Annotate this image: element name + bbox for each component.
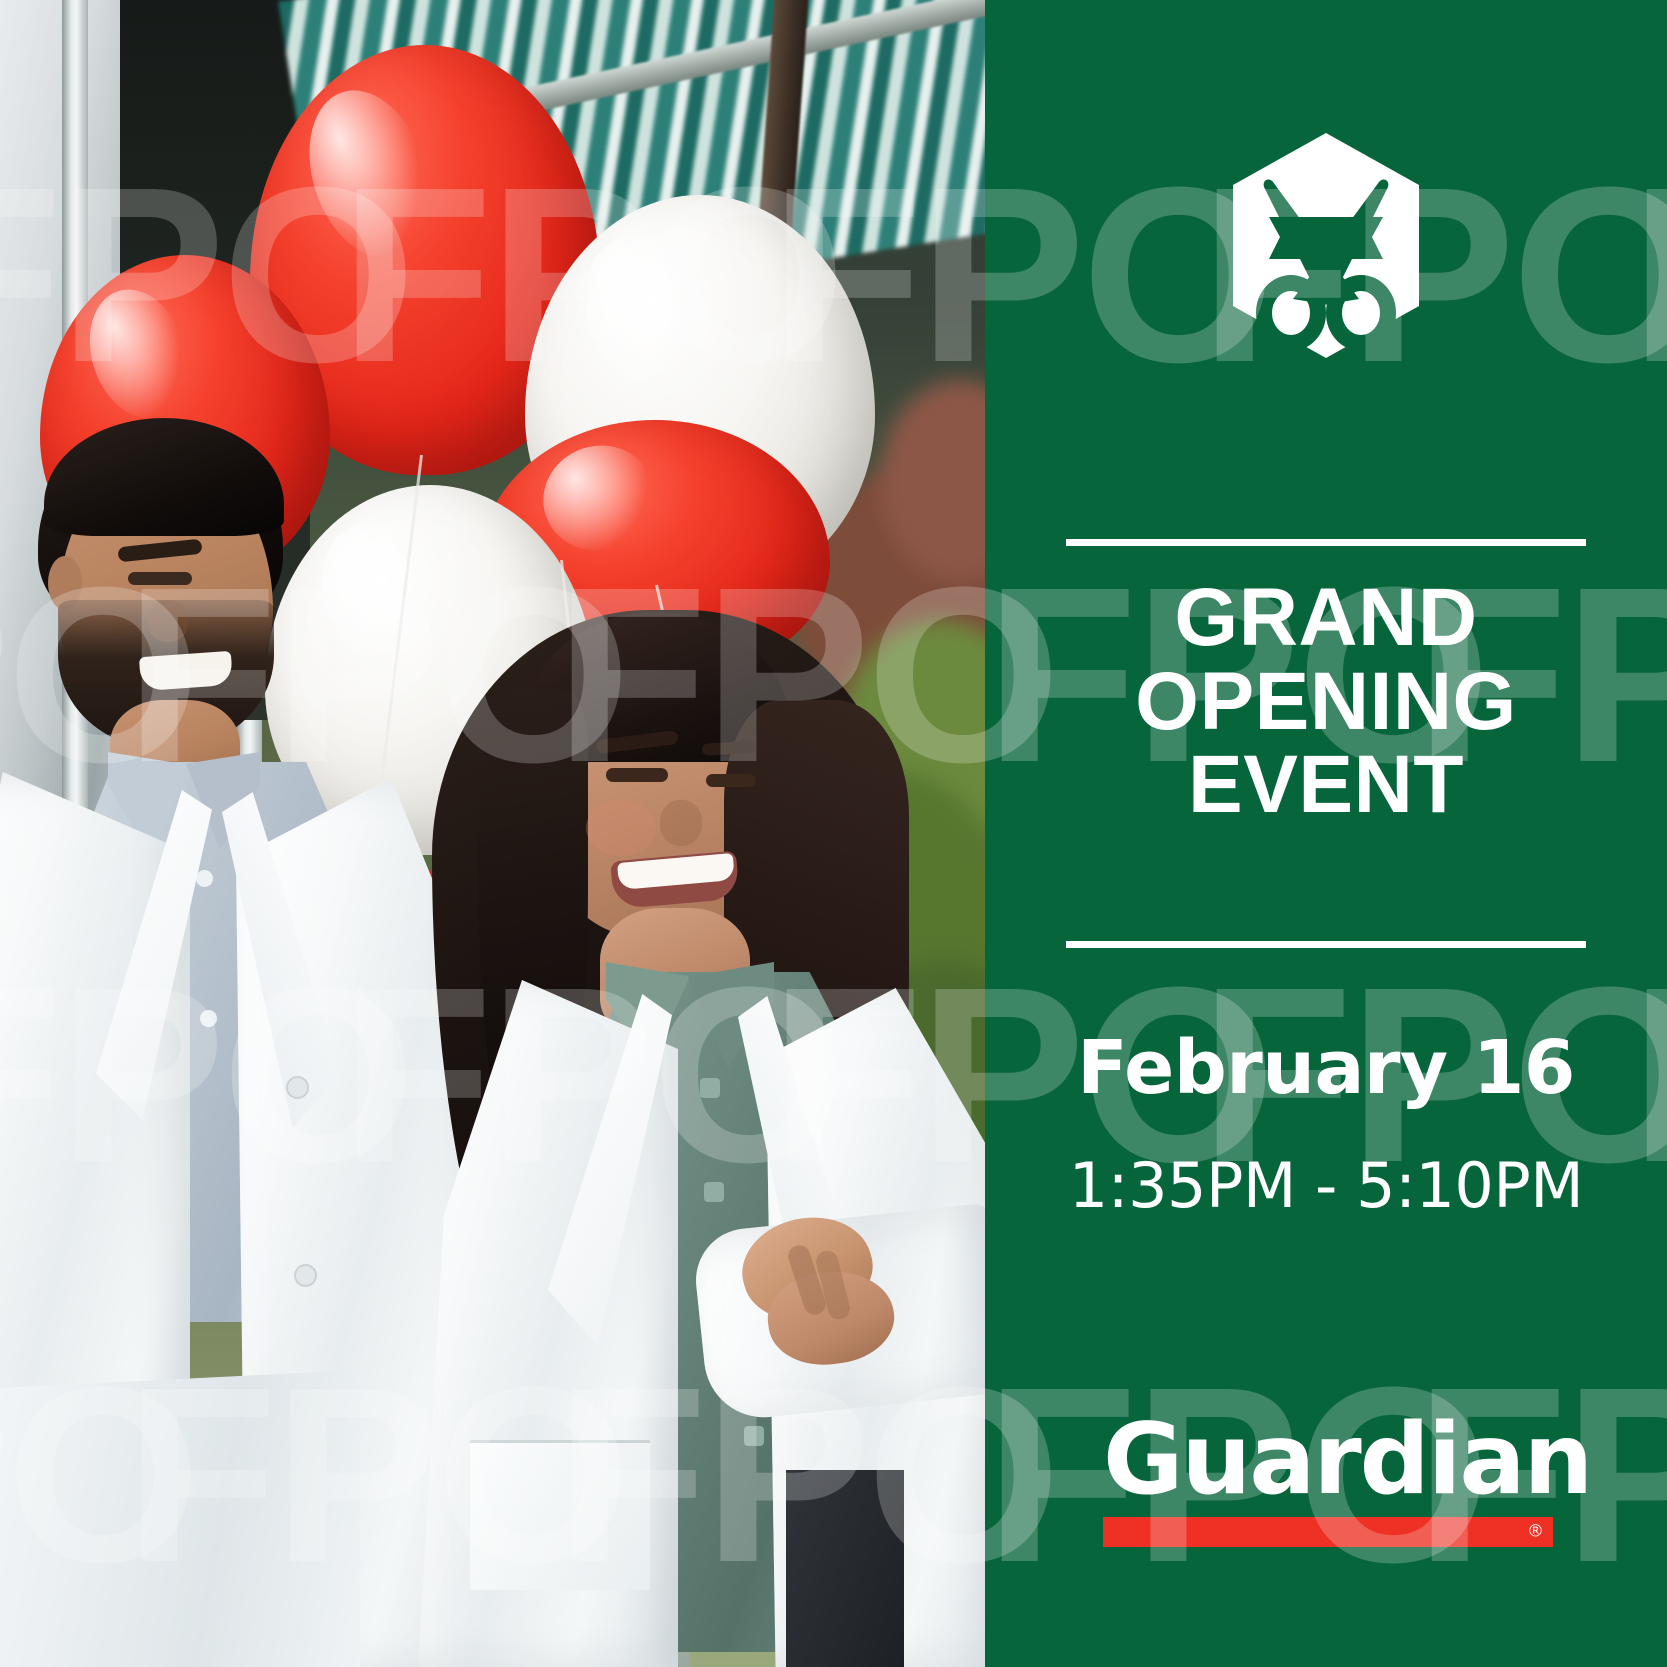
guardian-red-bar: ® bbox=[1103, 1517, 1553, 1547]
cheek bbox=[586, 800, 656, 856]
eye bbox=[128, 572, 192, 585]
event-info-panel: GRAND OPENING EVENT February 16 1:35PM -… bbox=[985, 0, 1667, 1667]
eye bbox=[706, 774, 756, 787]
eye bbox=[606, 768, 668, 782]
guardian-wordmark: Guardian bbox=[1081, 1413, 1571, 1507]
social-graphic-canvas: GRAND OPENING EVENT February 16 1:35PM -… bbox=[0, 0, 1667, 1667]
trousers bbox=[786, 1470, 904, 1667]
ribbon-cutting-scissors-hexagon-icon bbox=[1233, 133, 1419, 358]
headline-line-1: GRAND bbox=[985, 576, 1667, 660]
event-time: 1:35PM - 5:10PM bbox=[985, 1155, 1667, 1217]
headline-line-3: EVENT bbox=[985, 743, 1667, 827]
divider-rule-top bbox=[1066, 539, 1586, 546]
shirt-button bbox=[196, 870, 213, 887]
blouse-button bbox=[700, 1078, 720, 1098]
divider-rule-bottom bbox=[1066, 941, 1586, 948]
headline: GRAND OPENING EVENT bbox=[985, 576, 1667, 827]
coat-button bbox=[296, 1266, 315, 1285]
coat-button bbox=[288, 1078, 307, 1097]
headline-line-2: OPENING bbox=[985, 660, 1667, 744]
blouse-button bbox=[704, 1182, 724, 1202]
blouse-button bbox=[744, 1426, 764, 1446]
nose bbox=[148, 600, 188, 642]
nose bbox=[660, 800, 702, 846]
shirt-button bbox=[200, 1010, 217, 1027]
event-photo bbox=[0, 0, 985, 1667]
lab-coat-hem bbox=[0, 1370, 360, 1667]
registered-trademark-icon: ® bbox=[1527, 1524, 1544, 1541]
coat-pocket bbox=[470, 1440, 650, 1590]
event-date: February 16 bbox=[985, 1031, 1667, 1105]
guardian-logo: Guardian ® bbox=[1081, 1413, 1571, 1547]
